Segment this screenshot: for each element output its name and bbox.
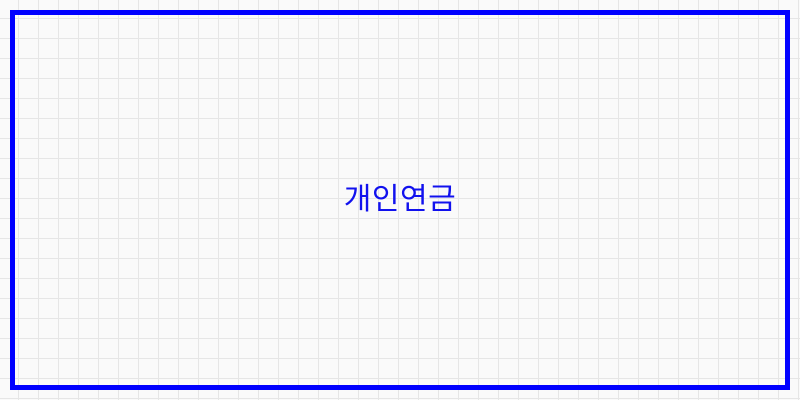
- placeholder-canvas: 개인연금: [0, 0, 800, 400]
- placeholder-frame: 개인연금: [10, 10, 790, 390]
- placeholder-label: 개인연금: [344, 185, 456, 215]
